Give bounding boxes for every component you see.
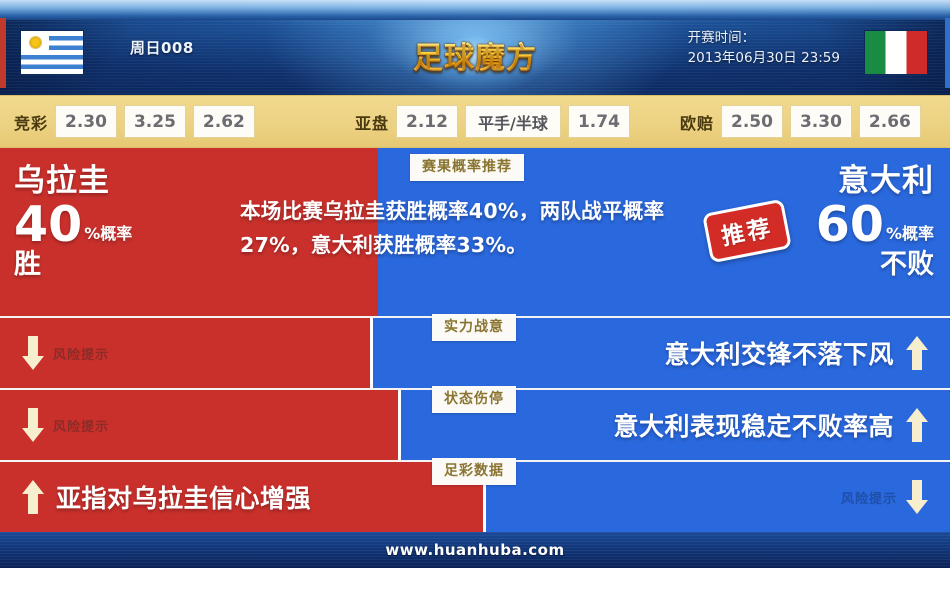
home-team-name: 乌拉圭	[14, 162, 204, 200]
kickoff-value: 2013年06月30日 23:59	[688, 48, 840, 68]
odds-cell-handicap[interactable]: 平手/半球	[465, 105, 561, 138]
away-verdict: 不败	[734, 249, 934, 281]
row-right-note-label: 风险提示	[841, 488, 897, 507]
away-percent-value: 60	[816, 200, 884, 249]
row-left-text: 亚指对乌拉圭信心增强	[56, 479, 311, 515]
odds-cell-away[interactable]: 2.62	[193, 105, 255, 138]
row-left-note-label: 风险提示	[53, 344, 109, 363]
odds-cell-home[interactable]: 2.12	[396, 105, 458, 138]
odds-cell-home[interactable]: 2.50	[721, 105, 783, 138]
home-percent-value: 40	[14, 200, 82, 249]
analysis-row-wrap-3: 亚指对乌拉圭信心增强 风险提示 足彩数据	[0, 460, 950, 532]
row-separator	[370, 318, 373, 388]
arrow-down-icon	[906, 480, 928, 514]
analysis-row-wrap-2: 风险提示 意大利表现稳定不败率高 状态伤停	[0, 388, 950, 460]
odds-cell-away[interactable]: 1.74	[568, 105, 630, 138]
arrow-down-icon	[22, 336, 44, 370]
odds-group-label: 亚盘	[355, 110, 389, 134]
site-footer: www.huanhuba.com	[0, 532, 950, 568]
match-preview-page: 周日008 足球魔方 开赛时间： 2013年06月30日 23:59 竞彩 2.…	[0, 0, 950, 594]
recommend-stamp-label: 推荐	[718, 208, 776, 251]
match-number: 周日008	[130, 37, 194, 58]
row-right-text: 意大利表现稳定不败率高	[613, 407, 894, 443]
header-right-blue-edge	[945, 18, 950, 88]
odds-group-european: 欧赔 2.50 3.30 2.66	[680, 105, 921, 138]
row-right-risk-note: 风险提示	[841, 462, 928, 532]
italy-flag-bands	[865, 31, 927, 74]
kickoff-label: 开赛时间：	[688, 28, 840, 48]
probability-summary: 本场比赛乌拉圭获胜概率40%，两队战平概率27%，意大利获胜概率33%。	[240, 194, 688, 262]
row-left-note-label: 风险提示	[53, 416, 109, 435]
odds-cell-away[interactable]: 2.66	[859, 105, 921, 138]
italy-flag	[864, 30, 928, 75]
away-team-name: 意大利	[734, 162, 934, 200]
analysis-row-wrap-1: 风险提示 意大利交锋不落下风 实力战意	[0, 316, 950, 388]
footer-url[interactable]: www.huanhuba.com	[385, 541, 564, 559]
odds-bar: 竞彩 2.30 3.25 2.62 亚盘 2.12 平手/半球 1.74 欧赔 …	[0, 95, 950, 148]
section-tab-form-injury: 状态伤停	[432, 386, 516, 413]
row-separator	[398, 390, 401, 460]
away-percent-suffix: %概率	[884, 226, 934, 249]
home-probability-block: 乌拉圭 40 %概率 胜	[14, 162, 204, 281]
match-header: 周日008 足球魔方 开赛时间： 2013年06月30日 23:59	[0, 0, 950, 95]
odds-cell-draw[interactable]: 3.30	[790, 105, 852, 138]
section-tab-result-probability: 赛果概率推荐	[410, 154, 524, 181]
home-percent-line: 40 %概率	[14, 200, 204, 249]
row-left-risk-note: 风险提示	[22, 390, 109, 460]
kickoff-time: 开赛时间： 2013年06月30日 23:59	[688, 28, 840, 68]
arrow-up-icon	[22, 480, 44, 514]
row-right-headline: 意大利表现稳定不败率高	[613, 390, 928, 460]
arrow-up-icon	[906, 408, 928, 442]
home-percent-suffix: %概率	[82, 226, 132, 249]
row-left-headline: 亚指对乌拉圭信心增强	[22, 462, 311, 532]
site-logo[interactable]: 足球魔方	[405, 22, 545, 88]
odds-group-jingcai: 竞彩 2.30 3.25 2.62	[14, 105, 255, 138]
arrow-down-icon	[22, 408, 44, 442]
header-left-red-edge	[0, 18, 6, 88]
page-bottom-spacer	[0, 568, 950, 592]
row-left-risk-note: 风险提示	[22, 318, 109, 388]
logo-text: 足球魔方	[413, 33, 537, 77]
sun-of-may-icon	[30, 37, 41, 48]
odds-group-label: 欧赔	[680, 110, 714, 134]
odds-cell-draw[interactable]: 3.25	[124, 105, 186, 138]
section-tab-strength: 实力战意	[432, 314, 516, 341]
odds-group-asian: 亚盘 2.12 平手/半球 1.74	[355, 105, 630, 138]
section-tab-lottery-data: 足彩数据	[432, 458, 516, 485]
home-verdict: 胜	[14, 249, 204, 281]
odds-cell-home[interactable]: 2.30	[55, 105, 117, 138]
arrow-up-icon	[906, 336, 928, 370]
row-right-headline: 意大利交锋不落下风	[664, 318, 928, 388]
row-right-text: 意大利交锋不落下风	[664, 335, 894, 371]
odds-group-label: 竞彩	[14, 110, 48, 134]
uruguay-flag	[20, 30, 84, 75]
